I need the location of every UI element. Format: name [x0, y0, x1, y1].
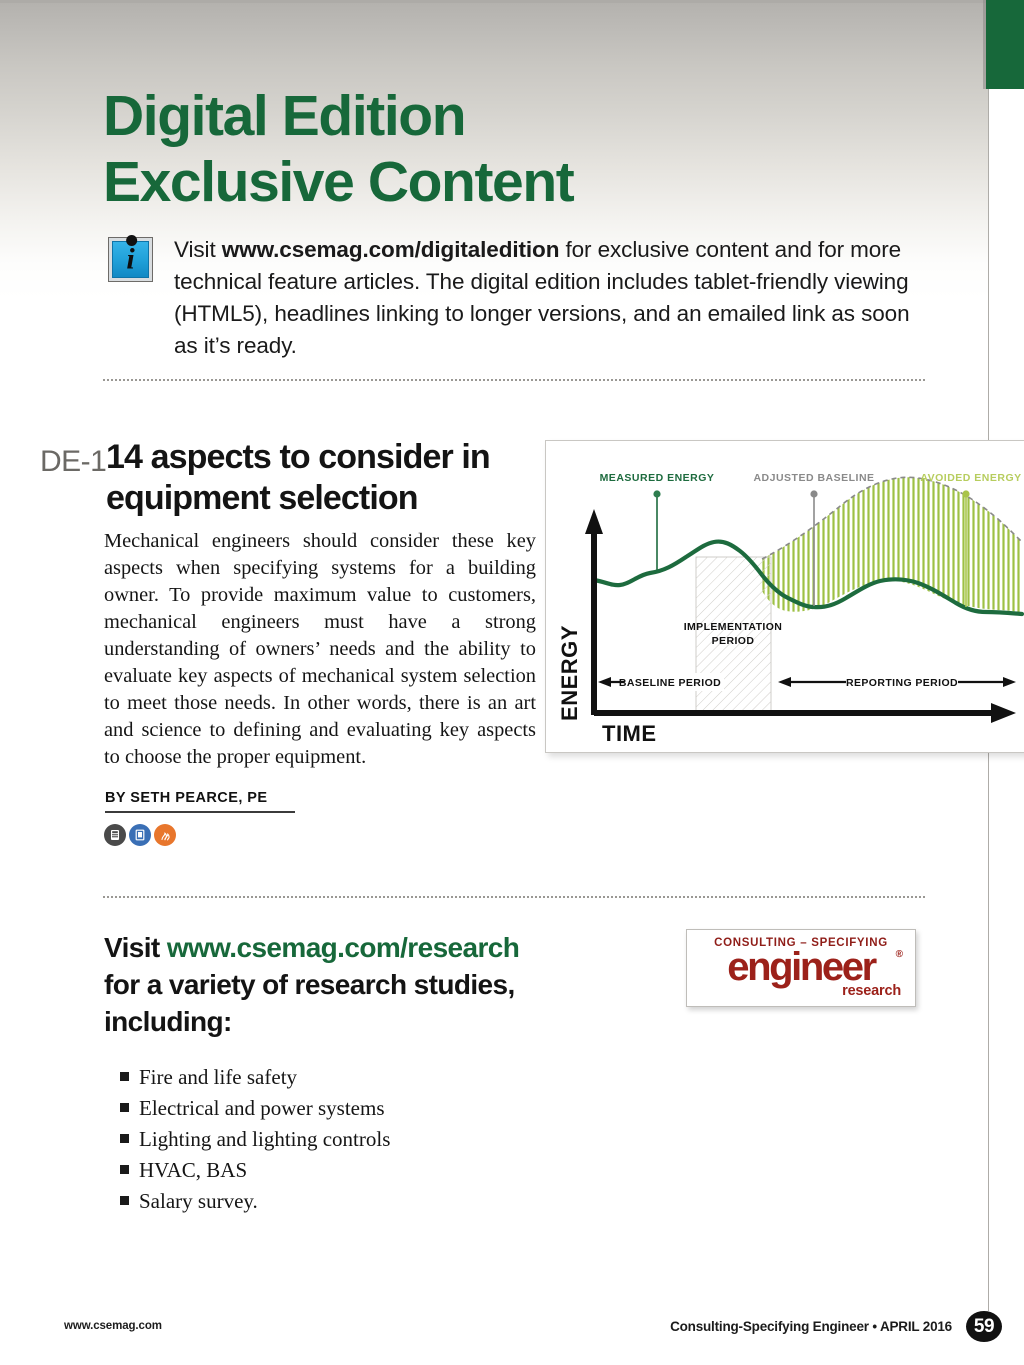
bullet-square-icon [120, 1072, 129, 1081]
label-avoided-energy: AVOIDED ENERGY [920, 472, 1021, 484]
page-top-hairline [0, 0, 1024, 3]
callout-pin-measured [653, 490, 660, 572]
research-url[interactable]: www.csemag.com/research [167, 932, 519, 963]
article-headline[interactable]: 14 aspects to consider in equipment sele… [106, 437, 546, 520]
list-item: Electrical and power systems [120, 1093, 390, 1124]
callout-text-before: Visit [174, 237, 222, 262]
codes-standards-icon[interactable] [104, 824, 126, 846]
magazine-page: Digital Edition Exclusive Content i Visi… [0, 0, 1024, 1365]
bullet-square-icon [120, 1103, 129, 1112]
masthead-line-1: Digital Edition [103, 83, 903, 149]
list-item-label: Lighting and lighting controls [139, 1124, 390, 1155]
list-item-label: HVAC, BAS [139, 1155, 247, 1186]
avoided-energy-fill [756, 471, 1024, 621]
list-item: Fire and life safety [120, 1062, 390, 1093]
research-visit-word: Visit [104, 932, 167, 963]
list-item: HVAC, BAS [120, 1155, 390, 1186]
bullet-square-icon [120, 1134, 129, 1143]
digital-edition-url[interactable]: www.csemag.com/digitaledition [222, 237, 560, 262]
article-reference-label: DE-1 [40, 445, 106, 479]
logo-wordmark: engineer ® [697, 948, 905, 986]
label-adjusted-baseline: ADJUSTED BASELINE [753, 472, 874, 484]
section-color-tab [986, 0, 1024, 89]
page-title: Digital Edition Exclusive Content [103, 83, 903, 215]
list-item-label: Fire and life safety [139, 1062, 297, 1093]
logo-wordmark-text: engineer [727, 945, 875, 989]
list-item: Salary survey. [120, 1186, 390, 1217]
callout-text: Visit www.csemag.com/digitaledition for … [174, 234, 926, 362]
page-number-badge: 59 [966, 1311, 1002, 1342]
divider-bottom [103, 896, 925, 898]
list-item-label: Electrical and power systems [139, 1093, 385, 1124]
chart-ylabel: ENERGY [557, 625, 582, 721]
svg-text:REPORTING PERIOD: REPORTING PERIOD [846, 677, 958, 689]
label-implementation-period-1: IMPLEMENTATION [684, 621, 783, 633]
research-promo-rest: for a variety of research studies, inclu… [104, 969, 515, 1037]
label-implementation-period-2: PERIOD [712, 635, 755, 647]
bullet-square-icon [120, 1165, 129, 1174]
article-byline: BY SETH PEARCE, PE [105, 790, 295, 813]
footer-publication: Consulting-Specifying Engineer • APRIL 2… [670, 1319, 952, 1334]
reporting-period-span: REPORTING PERIOD [778, 673, 1016, 691]
label-measured-energy: MEASURED ENERGY [600, 472, 715, 484]
research-promo-text: Visit www.csemag.com/research for a vari… [104, 930, 574, 1041]
masthead-line-2: Exclusive Content [103, 149, 903, 215]
baseline-period-span: BASELINE PERIOD [598, 673, 724, 691]
digital-edition-callout: i Visit www.csemag.com/digitaledition fo… [108, 234, 926, 362]
footer-website[interactable]: www.csemag.com [64, 1320, 162, 1332]
list-item: Lighting and lighting controls [120, 1124, 390, 1155]
chart-xlabel: TIME [602, 721, 657, 746]
info-icon: i [108, 237, 153, 282]
energy-efficiency-icon[interactable] [154, 824, 176, 846]
building-automation-icon[interactable] [129, 824, 151, 846]
divider-top [103, 379, 925, 381]
info-icon-glyph: i [113, 244, 148, 274]
article-category-icons [104, 824, 176, 846]
chart-svg: MEASURED ENERGY ADJUSTED BASELINE AVOIDE… [546, 441, 1024, 753]
research-topics-list: Fire and life safety Electrical and powe… [120, 1062, 390, 1217]
svg-text:BASELINE PERIOD: BASELINE PERIOD [619, 677, 721, 689]
energy-savings-chart: MEASURED ENERGY ADJUSTED BASELINE AVOIDE… [545, 440, 1024, 753]
cse-research-logo[interactable]: CONSULTING – SPECIFYING engineer ® resea… [686, 929, 916, 1007]
list-item-label: Salary survey. [139, 1186, 258, 1217]
registered-trademark-icon: ® [896, 950, 903, 960]
article-body-text: Mechanical engineers should consider the… [104, 528, 536, 771]
bullet-square-icon [120, 1196, 129, 1205]
